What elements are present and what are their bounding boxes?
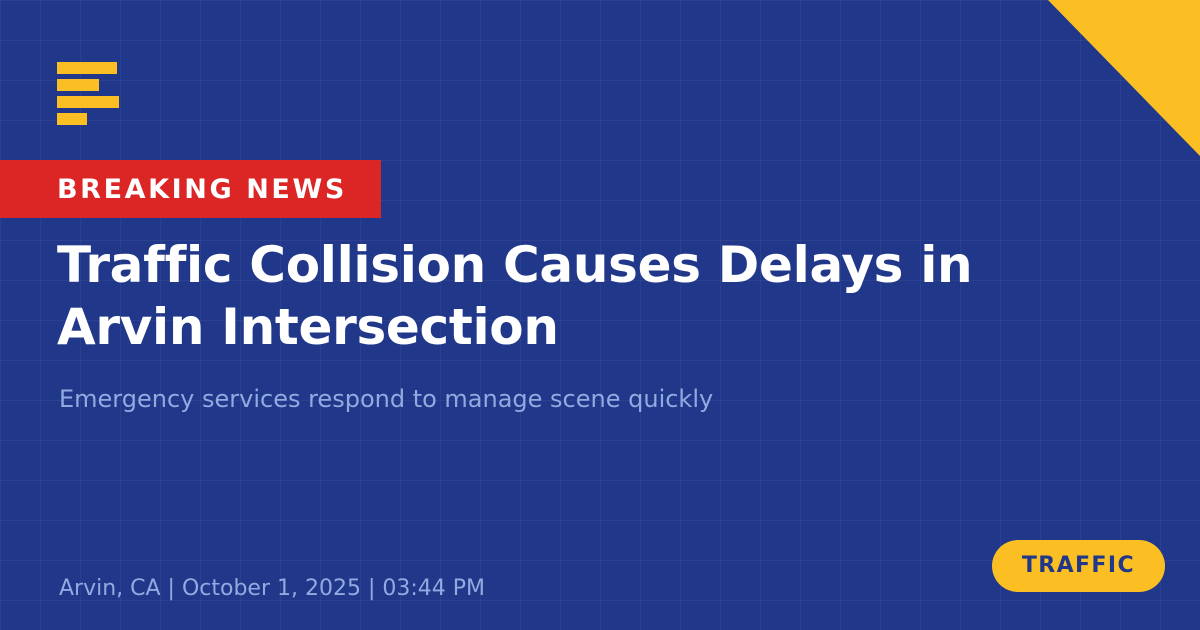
meta-location-date-time: Arvin, CA | October 1, 2025 | 03:44 PM	[59, 574, 485, 604]
breaking-news-banner: BREAKING NEWS	[0, 160, 381, 218]
brand-logo	[57, 62, 119, 125]
logo-bar-2-icon	[57, 79, 99, 91]
category-badge-label: TRAFFIC	[1022, 555, 1135, 577]
logo-bar-1-icon	[57, 62, 117, 74]
subheadline-text: Emergency services respond to manage sce…	[59, 382, 1019, 416]
corner-triangle-decoration	[1048, 0, 1200, 156]
logo-bar-3-icon	[57, 96, 119, 108]
category-badge: TRAFFIC	[992, 540, 1165, 592]
breaking-news-card: BREAKING NEWS Traffic Collision Causes D…	[0, 0, 1200, 630]
breaking-news-label: BREAKING NEWS	[57, 176, 347, 203]
logo-bar-4-icon	[57, 113, 87, 125]
headline-text: Traffic Collision Causes Delays in Arvin…	[57, 234, 1017, 358]
